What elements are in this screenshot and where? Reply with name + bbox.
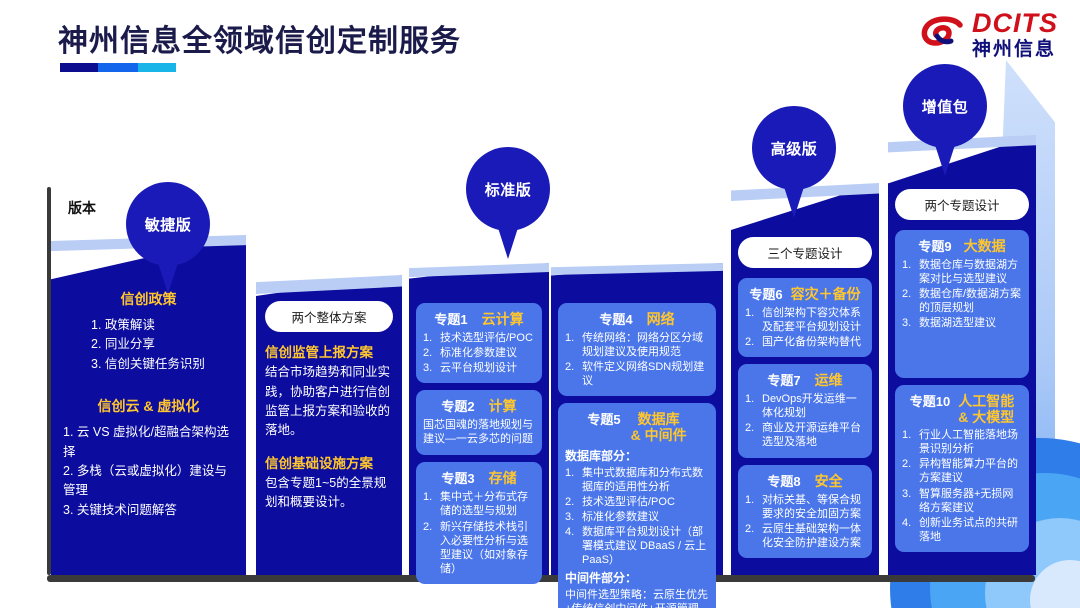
column-advanced-content: 三个专题设计 专题6 容灾＋备份 1.信创架构下容灾体系及配套平台规划设计 2.… <box>731 183 879 575</box>
list-item: 3. 关键技术问题解答 <box>63 501 236 520</box>
column-five-b-content: 专题4 网络 1.传统网络：网络分区分域规划建议及使用规范 2.软件定义网络SD… <box>551 263 723 575</box>
topic-number: 专题1 <box>434 309 467 328</box>
list-item: 2.异构智能算力平台的方案建议 <box>902 457 1022 485</box>
list-item: 3.智算服务器+无损网络方案建议 <box>902 487 1022 515</box>
pill-overall-plans: 两个整体方案 <box>265 301 393 332</box>
pin-value-tail <box>929 126 961 176</box>
list-item: 3. 信创关键任务识别 <box>91 355 236 374</box>
pin-label: 敏捷版 <box>145 214 192 235</box>
list-item: 2.技术选型评估/POC <box>565 495 709 509</box>
list-item: 2.国产化备份架构替代 <box>745 335 865 349</box>
pill-three-topics: 三个专题设计 <box>738 237 872 268</box>
topic-name: 安全 <box>815 473 843 489</box>
list-item: 2.标准化参数建议 <box>423 346 535 360</box>
topic-number: 专题8 <box>767 471 800 490</box>
topic-number: 专题6 <box>749 284 782 303</box>
column-overall-content: 两个整体方案 信创监管上报方案 结合市场趋势和同业实践，协助客户进行信创监管上报… <box>256 275 402 575</box>
list-item: 4.数据库平台规划设计（部署模式建议 DBaaS / 云上PaaS） <box>565 525 709 567</box>
topic-name: 云计算 <box>482 311 524 327</box>
list-item: 2. 多栈（云或虚拟化）建设与管理 <box>63 462 236 501</box>
list-item: 2.云原生基础架构一体化安全防护建设方案 <box>745 522 865 550</box>
topic-card-1[interactable]: 专题1 云计算 1.技术选型评估/POC 2.标准化参数建议 3.云平台规划设计 <box>416 303 542 383</box>
topic-name-line2: & 大模型 <box>958 409 1014 425</box>
dcits-swoosh-icon <box>920 12 966 58</box>
list-item: 2. 同业分享 <box>91 335 236 354</box>
page-title: 神州信息全领域信创定制服务 <box>58 16 461 60</box>
column-five-topics-b: 专题4 网络 1.传统网络：网络分区分域规划建议及使用规范 2.软件定义网络SD… <box>551 263 723 575</box>
topic-number: 专题5 <box>587 409 620 428</box>
list-item: 3.标准化参数建议 <box>565 510 709 524</box>
topic-number: 专题10 <box>910 391 950 410</box>
list-item: 1.信创架构下容灾体系及配套平台规划设计 <box>745 306 865 334</box>
topic-text: 中间件选型策略：云原生优先+传统信创中间件+开源管理 <box>565 588 709 608</box>
list-item: 1. 云 VS 虚拟化/超融合架构选择 <box>63 423 236 462</box>
topic-number: 专题9 <box>918 236 951 255</box>
topic-card-8[interactable]: 专题8 安全 1.对标关基、等保合规要求的安全加固方案 2.云原生基础架构一体化… <box>738 465 872 558</box>
topic-subheading-mw: 中间件部分： <box>565 569 709 586</box>
slide-canvas: 神州信息全领域信创定制服务 DCITS 神州信息 版本 方案 信创政策 1. 政… <box>0 0 1080 608</box>
block-title-supervision: 信创监管上报方案 <box>265 344 393 362</box>
list-item: 2.数据仓库/数据湖方案的顶层规划 <box>902 287 1022 315</box>
list-item: 1.传统网络：网络分区分域规划建议及使用规范 <box>565 331 709 359</box>
pin-label: 高级版 <box>771 138 818 159</box>
topic-number: 专题7 <box>767 370 800 389</box>
column-value-add: 两个专题设计 专题9 大数据 1.数据仓库与数据湖方案对比与选型建议 2.数据仓… <box>888 135 1036 575</box>
list-item: 2.商业及开源运维平台选型及落地 <box>745 421 865 449</box>
topic-number: 专题4 <box>599 309 632 328</box>
block-title-infra: 信创基础设施方案 <box>265 455 393 473</box>
title-accent-bar <box>60 63 176 72</box>
pin-label: 增值包 <box>922 96 969 117</box>
list-item: 4.创新业务试点的共研落地 <box>902 516 1022 544</box>
topic-name-line1: 人工智能 <box>958 393 1014 409</box>
pin-advanced-tail <box>778 168 810 218</box>
topic-name-line2: & 中间件 <box>631 427 687 443</box>
topic-card-5[interactable]: 专题5 数据库 & 中间件 数据库部分： 1.集中式数据库和分布式数据库的适用性… <box>558 403 716 608</box>
column-value-content: 两个专题设计 专题9 大数据 1.数据仓库与数据湖方案对比与选型建议 2.数据仓… <box>888 135 1036 575</box>
topic-name: 数据库 & 中间件 <box>631 411 687 443</box>
list-item: 1.集中式数据库和分布式数据库的适用性分析 <box>565 466 709 494</box>
pin-label: 标准版 <box>485 179 532 200</box>
topic-name: 运维 <box>815 372 843 388</box>
topic-card-10[interactable]: 专题10 人工智能 & 大模型 1.行业人工智能落地场景识别分析 2.异构智能算… <box>895 385 1029 552</box>
block-text-infra: 包含专题1~5的全景规划和概要设计。 <box>265 474 393 513</box>
topic-card-6[interactable]: 专题6 容灾＋备份 1.信创架构下容灾体系及配套平台规划设计 2.国产化备份架构… <box>738 278 872 357</box>
topic-card-7[interactable]: 专题7 运维 1.DevOps开发运维一体化规划 2.商业及开源运维平台选型及落… <box>738 364 872 457</box>
topic-name: 大数据 <box>964 238 1006 254</box>
pin-agile-tail <box>152 244 184 294</box>
column-overall-plans: 两个整体方案 信创监管上报方案 结合市场趋势和同业实践，协助客户进行信创监管上报… <box>256 275 402 575</box>
topic-name-line1: 数据库 <box>631 411 687 427</box>
list-item: 1.DevOps开发运维一体化规划 <box>745 392 865 420</box>
pin-value-add[interactable]: 增值包 <box>903 64 987 176</box>
logo-text-en: DCITS <box>972 10 1058 37</box>
pin-advanced[interactable]: 高级版 <box>752 106 836 218</box>
topic-text: 国芯国魂的落地规划与建议—一云多芯的问题 <box>423 418 535 446</box>
topic-subheading-db: 数据库部分： <box>565 447 709 464</box>
list-item: 1.数据仓库与数据湖方案对比与选型建议 <box>902 258 1022 286</box>
list-item: 1.对标关基、等保合规要求的安全加固方案 <box>745 493 865 521</box>
topic-number: 专题2 <box>441 396 474 415</box>
pill-two-topics: 两个专题设计 <box>895 189 1029 220</box>
pin-agile[interactable]: 敏捷版 <box>126 182 210 294</box>
block-text-supervision: 结合市场趋势和同业实践，协助客户进行信创监管上报方案和验收的落地。 <box>265 363 393 441</box>
pin-standard-tail <box>492 209 524 259</box>
topic-number: 专题3 <box>441 468 474 487</box>
list-item: 3.数据湖选型建议 <box>902 316 1022 330</box>
topic-name: 网络 <box>647 311 675 327</box>
list-item: 1.集中式＋分布式存储的选型与规划 <box>423 490 535 518</box>
column-five-topics-a: 专题1 云计算 1.技术选型评估/POC 2.标准化参数建议 3.云平台规划设计… <box>409 263 549 575</box>
column-advanced: 三个专题设计 专题6 容灾＋备份 1.信创架构下容灾体系及配套平台规划设计 2.… <box>731 183 879 575</box>
topic-card-3[interactable]: 专题3 存储 1.集中式＋分布式存储的选型与规划 2.新兴存储技术栈引入必要性分… <box>416 462 542 583</box>
list-item: 2.新兴存储技术栈引入必要性分析与选型建议（如对象存储） <box>423 520 535 576</box>
topic-name: 存储 <box>489 470 517 486</box>
list-item: 2.软件定义网络SDN规划建议 <box>565 360 709 388</box>
topic-card-2[interactable]: 专题2 计算 国芯国魂的落地规划与建议—一云多芯的问题 <box>416 390 542 455</box>
logo-text-cn: 神州信息 <box>972 40 1058 59</box>
section-title-cloud: 信创云 & 虚拟化 <box>61 396 236 416</box>
topic-name: 计算 <box>489 398 517 414</box>
topic-card-9[interactable]: 专题9 大数据 1.数据仓库与数据湖方案对比与选型建议 2.数据仓库/数据湖方案… <box>895 230 1029 378</box>
topic-name: 人工智能 & 大模型 <box>958 393 1014 425</box>
topic-name: 容灾＋备份 <box>791 286 861 302</box>
column-five-a-content: 专题1 云计算 1.技术选型评估/POC 2.标准化参数建议 3.云平台规划设计… <box>409 263 549 575</box>
list-item: 3.云平台规划设计 <box>423 361 535 375</box>
list-item: 1.技术选型评估/POC <box>423 331 535 345</box>
list-item: 1.行业人工智能落地场景识别分析 <box>902 428 1022 456</box>
pin-standard[interactable]: 标准版 <box>466 147 550 259</box>
axis-label-version: 版本 <box>68 198 96 218</box>
topic-card-4[interactable]: 专题4 网络 1.传统网络：网络分区分域规划建议及使用规范 2.软件定义网络SD… <box>558 303 716 396</box>
list-item: 1. 政策解读 <box>91 316 236 335</box>
brand-logo: DCITS 神州信息 <box>920 10 1058 59</box>
